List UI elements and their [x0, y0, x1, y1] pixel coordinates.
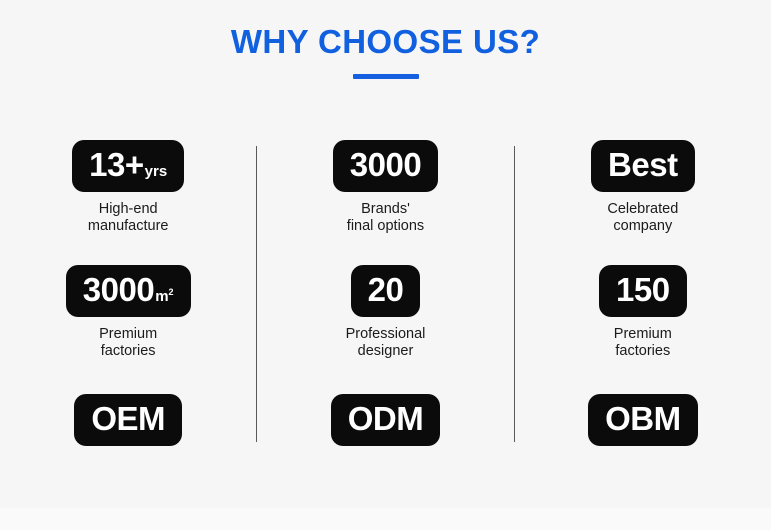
stats-column-1: 13+ yrs High-end manufacture 3000 m2 Pre…	[0, 140, 256, 446]
badge-value: ODM	[348, 401, 424, 437]
stat-caption: Premium factories	[614, 326, 672, 360]
badge-unit: yrs	[145, 163, 168, 181]
stat-item-service-oem: OEM	[74, 394, 182, 446]
badge-premium-factories-count: 150	[599, 265, 687, 317]
badge-service-oem: OEM	[74, 394, 182, 446]
stat-item-years-experience: 13+ yrs High-end manufacture	[72, 140, 184, 235]
stats-column-3: Best Celebrated company 150 Premium fact…	[515, 140, 771, 446]
badge-unit: m2	[155, 288, 173, 306]
badge-company-rank: Best	[591, 140, 695, 192]
stat-caption: Brands' final options	[347, 201, 424, 235]
badge-value: Best	[608, 147, 678, 183]
stat-item-factory-area: 3000 m2 Premium factories	[66, 265, 191, 360]
badge-value: 3000	[350, 147, 421, 183]
stat-caption: High-end manufacture	[88, 201, 169, 235]
badge-brands-count: 3000	[333, 140, 438, 192]
badge-value: OBM	[605, 401, 681, 437]
header-section: WHY CHOOSE US?	[0, 22, 771, 79]
badge-service-obm: OBM	[588, 394, 698, 446]
stat-caption: Celebrated company	[607, 201, 678, 235]
bottom-edge-strip	[0, 508, 771, 530]
badge-value: 20	[368, 272, 404, 308]
stat-item-service-odm: ODM	[331, 394, 441, 446]
stat-caption: Professional designer	[346, 326, 426, 360]
badge-value: 3000	[83, 272, 154, 308]
badge-factory-area: 3000 m2	[66, 265, 191, 317]
stat-item-company-rank: Best Celebrated company	[591, 140, 695, 235]
badge-value: 150	[616, 272, 670, 308]
badge-years-experience: 13+ yrs	[72, 140, 184, 192]
stat-item-brands-count: 3000 Brands' final options	[333, 140, 438, 235]
why-choose-us-infographic: WHY CHOOSE US? 13+ yrs High-end manufact…	[0, 0, 771, 530]
stat-item-premium-factories-count: 150 Premium factories	[599, 265, 687, 360]
stat-item-designers-count: 20 Professional designer	[346, 265, 426, 360]
title-underline-divider	[353, 74, 419, 79]
page-title: WHY CHOOSE US?	[0, 22, 771, 62]
stat-caption: Premium factories	[99, 326, 157, 360]
stats-columns-container: 13+ yrs High-end manufacture 3000 m2 Pre…	[0, 140, 771, 460]
badge-value: 13+	[89, 147, 143, 183]
badge-value: OEM	[91, 401, 165, 437]
stats-column-2: 3000 Brands' final options 20 Profession…	[257, 140, 513, 446]
badge-designers-count: 20	[351, 265, 421, 317]
stat-item-service-obm: OBM	[588, 394, 698, 446]
badge-service-odm: ODM	[331, 394, 441, 446]
